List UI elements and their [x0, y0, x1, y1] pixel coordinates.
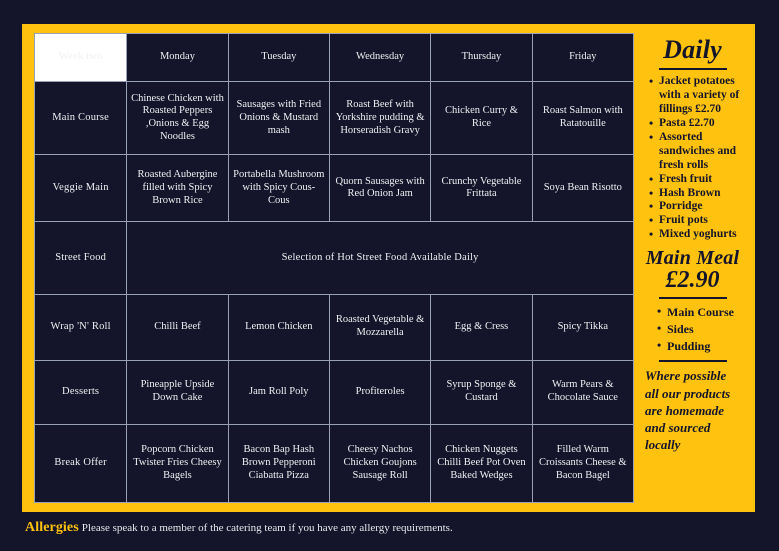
cell-wrap-friday: Spicy Tikka	[532, 294, 633, 360]
day-header-tuesday: Tuesday	[228, 34, 329, 82]
allergies-footer: AllergiesPlease speak to a member of the…	[25, 518, 765, 536]
cell-wrap-wednesday: Roasted Vegetable & Mozzarella	[329, 294, 430, 360]
row-label-break-offer: Break Offer	[35, 424, 127, 502]
list-item: Mixed yoghurts	[648, 228, 743, 242]
day-header-monday: Monday	[127, 34, 228, 82]
cell-desserts-thursday: Syrup Sponge & Custard	[431, 360, 532, 424]
cell-veggie-main-thursday: Crunchy Vegetable Frittata	[431, 155, 532, 222]
cell-desserts-wednesday: Profiteroles	[329, 360, 430, 424]
cell-veggie-main-monday: Roasted Aubergine filled with Spicy Brow…	[127, 155, 228, 222]
list-item: Pasta £2.70	[648, 117, 743, 131]
cell-main-course-thursday: Chicken Curry & Rice	[431, 82, 532, 155]
main-meal-heading: Main Meal	[642, 248, 743, 269]
list-item: Assorted sandwiches and fresh rolls	[648, 131, 743, 173]
cell-break-monday: Popcorn Chicken Twister Fries Cheesy Bag…	[127, 424, 228, 502]
daily-items-list: Jacket potatoes with a variety of fillin…	[642, 75, 743, 242]
daily-sidebar: Daily Jacket potatoes with a variety of …	[642, 33, 743, 503]
cell-break-wednesday: Cheesy Nachos Chicken Goujons Sausage Ro…	[329, 424, 430, 502]
cell-break-thursday: Chicken Nuggets Chilli Beef Pot Oven Bak…	[431, 424, 532, 502]
daily-heading: Daily	[642, 36, 743, 63]
main-meal-price: £2.90	[642, 268, 743, 292]
sourcing-note: Where possible all our products are home…	[642, 367, 743, 453]
table-row-wrap-n-roll: Wrap 'N' Roll Chilli Beef Lemon Chicken …	[35, 294, 634, 360]
cell-break-friday: Filled Warm Croissants Cheese & Bacon Ba…	[532, 424, 633, 502]
street-food-banner: Selection of Hot Street Food Available D…	[127, 222, 634, 294]
list-item: Pudding	[656, 338, 743, 355]
main-meal-items-list: Main Course Sides Pudding	[642, 304, 743, 355]
row-label-veggie-main: Veggie Main	[35, 155, 127, 222]
allergies-title: Allergies	[25, 520, 79, 535]
table-row-break-offer: Break Offer Popcorn Chicken Twister Frie…	[35, 424, 634, 502]
cell-desserts-tuesday: Jam Roll Poly	[228, 360, 329, 424]
divider-1	[659, 68, 727, 70]
list-item: Jacket potatoes with a variety of fillin…	[648, 75, 743, 117]
cell-veggie-main-tuesday: Portabella Mushroom with Spicy Cous-Cous	[228, 155, 329, 222]
cell-wrap-thursday: Egg & Cress	[431, 294, 532, 360]
table-row-main-course: Main Course Chinese Chicken with Roasted…	[35, 82, 634, 155]
day-header-wednesday: Wednesday	[329, 34, 430, 82]
list-item: Fresh fruit	[648, 173, 743, 187]
day-header-friday: Friday	[532, 34, 633, 82]
cell-desserts-friday: Warm Pears & Chocolate Sauce	[532, 360, 633, 424]
list-item: Fruit pots	[648, 214, 743, 228]
row-label-wrap-n-roll: Wrap 'N' Roll	[35, 294, 127, 360]
cell-break-tuesday: Bacon Bap Hash Brown Pepperoni Ciabatta …	[228, 424, 329, 502]
table-row-desserts: Desserts Pineapple Upside Down Cake Jam …	[35, 360, 634, 424]
allergies-text: Please speak to a member of the catering…	[82, 522, 453, 534]
menu-table-container: Week two Monday Tuesday Wednesday Thursd…	[34, 33, 634, 503]
row-label-street-food: Street Food	[35, 222, 127, 294]
row-label-desserts: Desserts	[35, 360, 127, 424]
cell-desserts-monday: Pineapple Upside Down Cake	[127, 360, 228, 424]
table-row-veggie-main: Veggie Main Roasted Aubergine filled wit…	[35, 155, 634, 222]
cell-main-course-tuesday: Sausages with Fried Onions & Mustard mas…	[228, 82, 329, 155]
list-item: Sides	[656, 321, 743, 338]
week-label-cell: Week two	[35, 34, 127, 82]
yellow-frame: Week two Monday Tuesday Wednesday Thursd…	[22, 24, 755, 512]
menu-poster: Week two Monday Tuesday Wednesday Thursd…	[0, 0, 779, 551]
cell-main-course-wednesday: Roast Beef with Yorkshire pudding & Hors…	[329, 82, 430, 155]
list-item: Hash Brown	[648, 187, 743, 201]
cell-veggie-main-wednesday: Quorn Sausages with Red Onion Jam	[329, 155, 430, 222]
cell-main-course-friday: Roast Salmon with Ratatouille	[532, 82, 633, 155]
cell-main-course-monday: Chinese Chicken with Roasted Peppers ,On…	[127, 82, 228, 155]
cell-wrap-tuesday: Lemon Chicken	[228, 294, 329, 360]
weekly-menu-table: Week two Monday Tuesday Wednesday Thursd…	[34, 33, 634, 503]
cell-veggie-main-friday: Soya Bean Risotto	[532, 155, 633, 222]
cell-wrap-monday: Chilli Beef	[127, 294, 228, 360]
day-header-thursday: Thursday	[431, 34, 532, 82]
table-header-row: Week two Monday Tuesday Wednesday Thursd…	[35, 34, 634, 82]
divider-3	[659, 360, 727, 362]
list-item: Porridge	[648, 200, 743, 214]
table-row-street-food: Street Food Selection of Hot Street Food…	[35, 222, 634, 294]
list-item: Main Course	[656, 304, 743, 321]
divider-2	[659, 297, 727, 299]
row-label-main-course: Main Course	[35, 82, 127, 155]
